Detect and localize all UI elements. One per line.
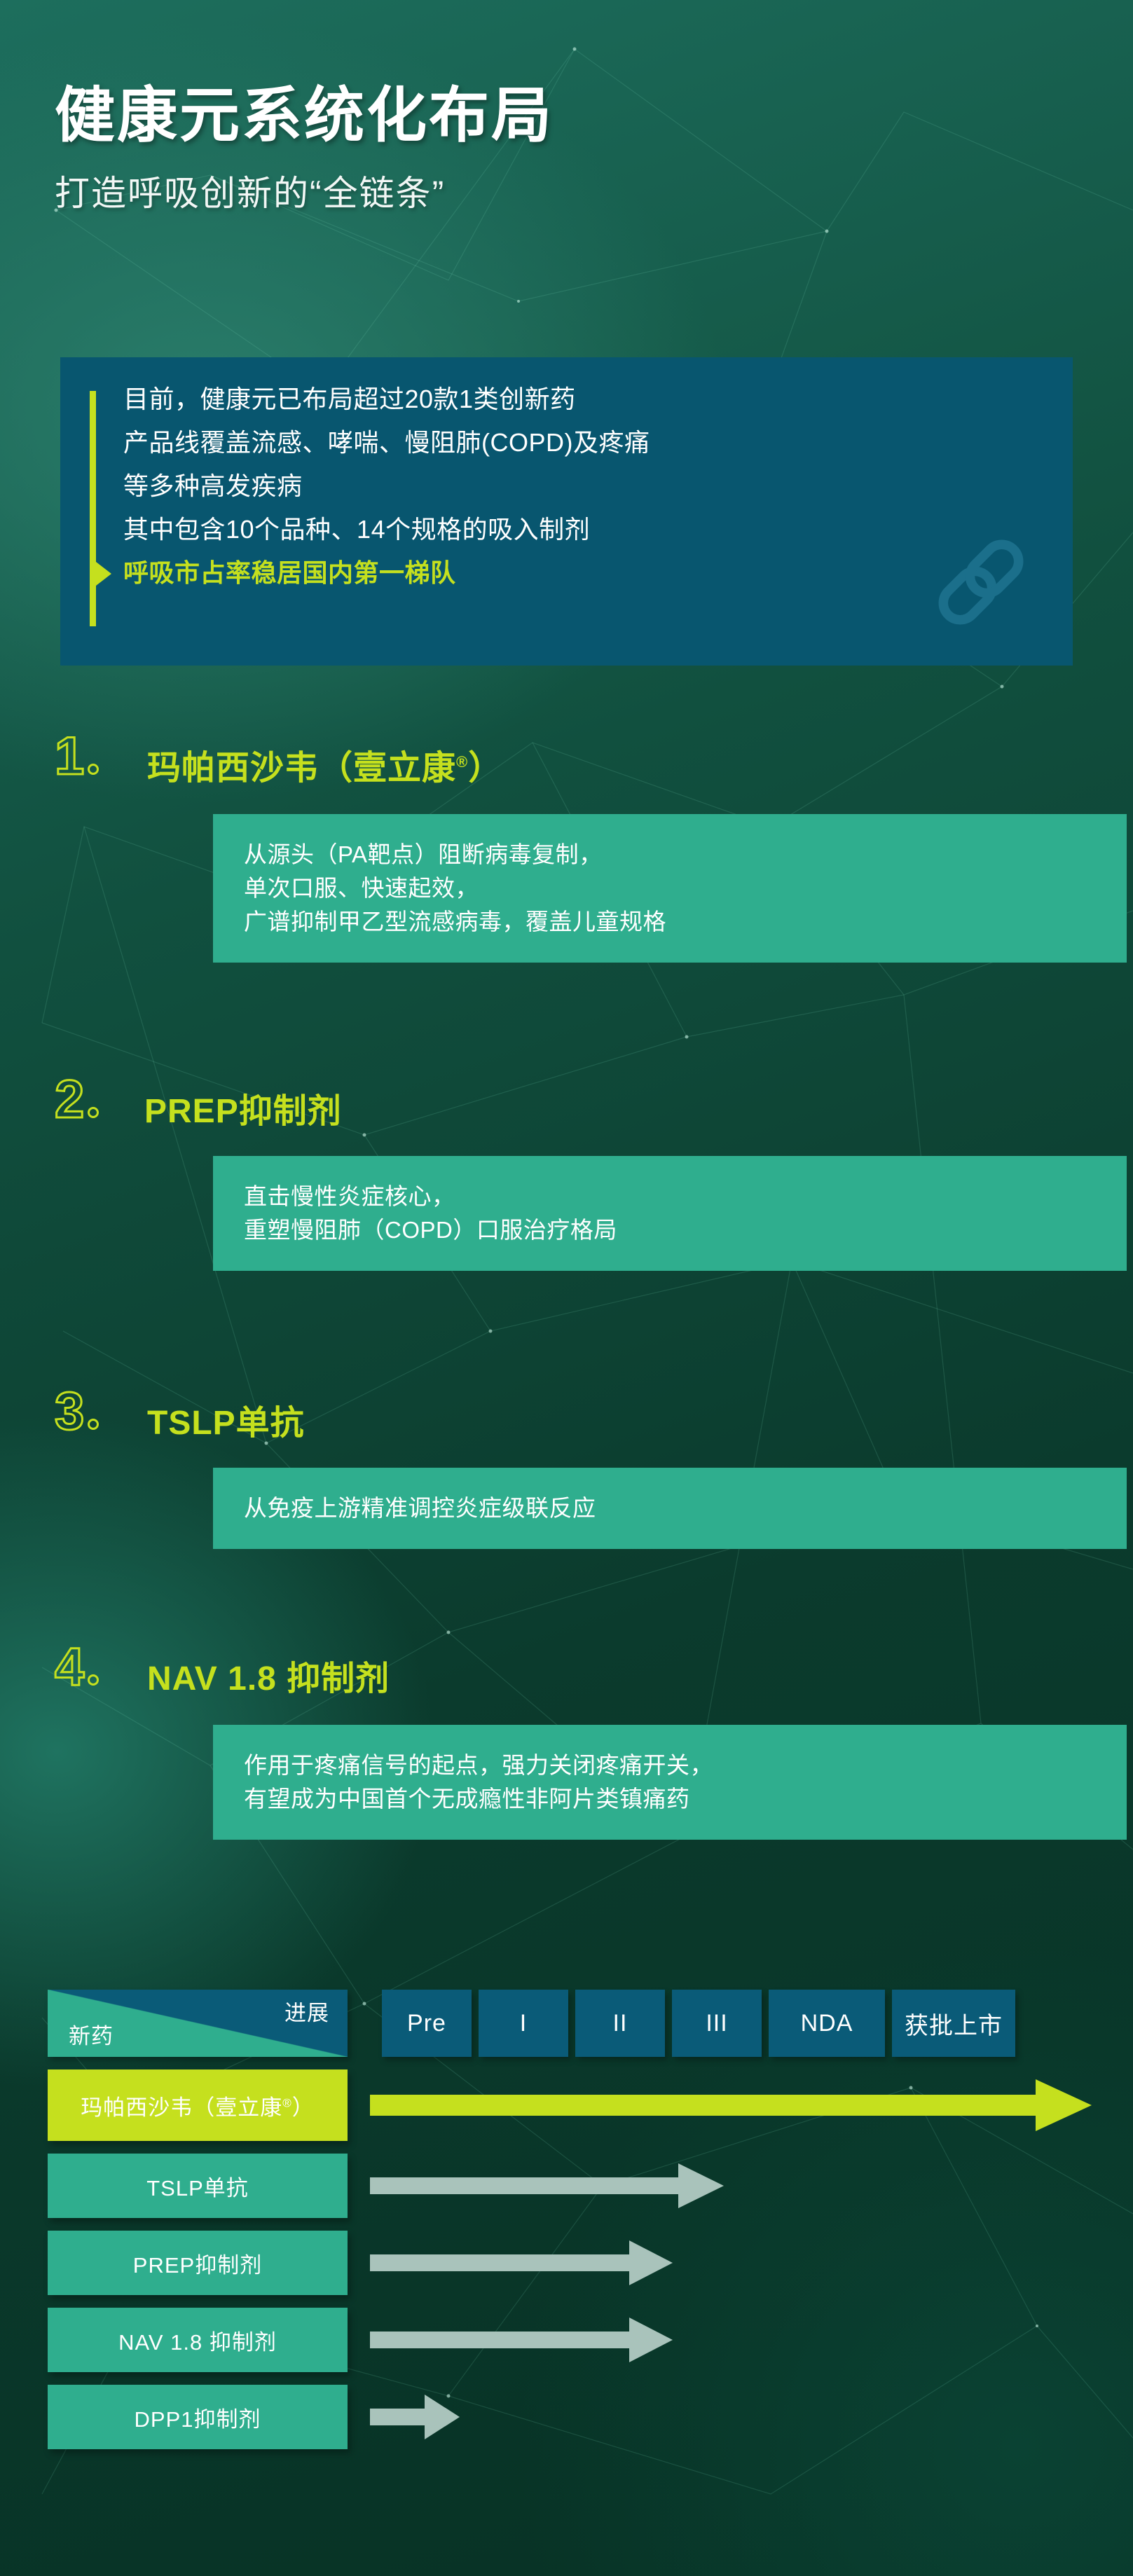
summary-line: 等多种高发疾病 [123,474,964,499]
section-title-text: PREP抑制剂 [144,1093,342,1130]
section-4-title: NAV 1.8 抑制剂 [147,1651,390,1700]
section-4: 4 NAV 1.8 抑制剂 作用于疼痛信号的起点，强力关闭疼痛开关， 有望成为中… [55,1646,1078,1705]
panel-line: 单次口服、快速起效， [244,872,1096,905]
section-3-title: TSLP单抗 [147,1395,305,1444]
pipeline-table: 新药 进展 Pre I II III NDA 获批上市 玛帕西沙韦（壹立康®） … [0,1990,1133,2480]
pipeline-row-label-tslp: TSLP单抗 [48,2154,348,2218]
accent-arrow-marker [96,562,111,586]
section-3-heading: 3 TSLP单抗 [55,1391,1078,1449]
section-number-dot-icon [88,1674,99,1686]
pipeline-phase-header-iii: III [672,1990,762,2057]
section-number: 4 [55,1642,84,1693]
section-title-text: TSLP单抗 [147,1405,305,1442]
pipeline-row-label-prep: PREP抑制剂 [48,2231,348,2295]
pipeline-phase-header-pre: Pre [382,1990,472,2057]
section-2: 2 PREP抑制剂 直击慢性炎症核心， 重塑慢阻肺（COPD）口服治疗格局 [55,1079,1078,1138]
section-title-tail: ） [468,750,502,787]
section-1: 1 玛帕西沙韦（壹立康®） 从源头（PA靶点）阻断病毒复制， 单次口服、快速起效… [55,736,1078,794]
summary-highlight-line: 呼吸市占率稳居国内第一梯队 [123,560,964,586]
pipeline-drug-name: 玛帕西沙韦（壹立康®） [81,2090,315,2121]
pipeline-phase-header-nda: NDA [769,1990,885,2057]
accent-bar [90,391,96,626]
pipeline-row-axis-label: 新药 [69,2018,114,2050]
section-1-number-badge: 1 [55,731,99,782]
pipeline-row-label-nav18: NAV 1.8 抑制剂 [48,2308,348,2372]
pipeline-arrow-prep [370,2240,673,2285]
panel-line: 从源头（PA靶点）阻断病毒复制， [244,838,1096,872]
pipeline-drug-name: PREP抑制剂 [133,2247,262,2279]
section-2-heading: 2 PREP抑制剂 [55,1079,1078,1138]
section-3-panel: 从免疫上游精准调控炎症级联反应 [213,1468,1127,1549]
pipeline-corner-header: 新药 进展 [48,1990,348,2057]
pipeline-arrow-nav18 [370,2317,673,2362]
section-4-panel: 作用于疼痛信号的起点，强力关闭疼痛开关， 有望成为中国首个无成瘾性非阿片类镇痛药 [213,1725,1127,1840]
section-3-number-badge: 3 [55,1386,99,1437]
pipeline-row-label-dpp1: DPP1抑制剂 [48,2385,348,2449]
pipeline-arrow-mapaxishawei [370,2079,1092,2131]
pipeline-phase-header-approved: 获批上市 [892,1990,1015,2057]
section-number-dot-icon [88,1107,99,1118]
registered-mark: ® [456,753,468,771]
section-number: 2 [55,1075,84,1125]
pipeline-arrow-dpp1 [370,2395,460,2439]
pipeline-phase-header-i: I [479,1990,568,2057]
summary-lines: 目前，健康元已布局超过20款1类创新药 产品线覆盖流感、哮喘、慢阻肺(COPD)… [123,387,964,586]
section-title-text: NAV 1.8 抑制剂 [147,1660,390,1697]
page-subtitle: 打造呼吸创新的“全链条” [55,165,1036,216]
summary-line: 目前，健康元已布局超过20款1类创新药 [123,387,964,412]
section-1-panel: 从源头（PA靶点）阻断病毒复制， 单次口服、快速起效， 广谱抑制甲乙型流感病毒，… [213,814,1127,963]
panel-line: 直击慢性炎症核心， [244,1180,1096,1213]
panel-line: 广谱抑制甲乙型流感病毒，覆盖儿童规格 [244,905,1096,939]
section-number-dot-icon [88,1419,99,1430]
pipeline-drug-name: NAV 1.8 抑制剂 [118,2324,277,2356]
pipeline-arrow-tslp [370,2163,724,2208]
section-4-number-badge: 4 [55,1642,99,1693]
section-number: 1 [55,731,84,782]
pipeline-col-axis-label: 进展 [284,1995,329,2027]
section-2-title: PREP抑制剂 [144,1083,342,1132]
section-number-dot-icon [88,764,99,775]
section-number: 3 [55,1386,84,1437]
section-1-heading: 1 玛帕西沙韦（壹立康®） [55,736,1078,794]
panel-line: 作用于疼痛信号的起点，强力关闭疼痛开关， [244,1749,1096,1782]
section-2-panel: 直击慢性炎症核心， 重塑慢阻肺（COPD）口服治疗格局 [213,1156,1127,1271]
page-header: 健康元系统化布局 打造呼吸创新的“全链条” [55,84,1036,216]
pipeline-phase-header-ii: II [575,1990,665,2057]
page-title: 健康元系统化布局 [55,84,1036,147]
summary-info-box: 目前，健康元已布局超过20款1类创新药 产品线覆盖流感、哮喘、慢阻肺(COPD)… [60,357,1073,666]
infographic-page: 健康元系统化布局 打造呼吸创新的“全链条” 目前，健康元已布局超过20款1类创新… [0,0,1133,2576]
pipeline-row-label-mapaxishawei: 玛帕西沙韦（壹立康®） [48,2069,348,2141]
pipeline-drug-name: DPP1抑制剂 [135,2402,261,2433]
section-1-title: 玛帕西沙韦（壹立康®） [147,740,502,789]
panel-line: 从免疫上游精准调控炎症级联反应 [244,1492,1096,1525]
section-3: 3 TSLP单抗 从免疫上游精准调控炎症级联反应 [55,1391,1078,1449]
section-2-number-badge: 2 [55,1075,99,1125]
panel-line: 有望成为中国首个无成瘾性非阿片类镇痛药 [244,1782,1096,1816]
section-4-heading: 4 NAV 1.8 抑制剂 [55,1646,1078,1705]
pipeline-drug-name: TSLP单抗 [146,2170,249,2202]
section-title-text: 玛帕西沙韦（壹立康 [147,750,456,787]
summary-line: 其中包含10个品种、14个规格的吸入制剂 [123,517,964,542]
summary-line: 产品线覆盖流感、哮喘、慢阻肺(COPD)及疼痛 [123,430,964,455]
panel-line: 重塑慢阻肺（COPD）口服治疗格局 [244,1213,1096,1247]
